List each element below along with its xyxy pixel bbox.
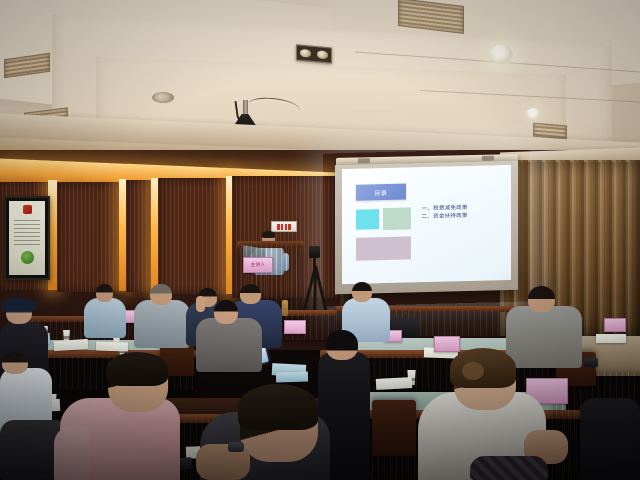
chair-back	[372, 400, 416, 456]
ceiling	[0, 0, 640, 172]
certificate-paper	[9, 201, 45, 275]
ceiling-downlight	[526, 108, 542, 120]
projection-screen-surface: 目录 一、税费减免政策 二、资金扶持政策	[342, 165, 511, 284]
smartphone	[584, 358, 598, 367]
ceiling-speaker	[152, 92, 174, 103]
wall-wood-panel	[158, 178, 226, 294]
attendee-far-right-body	[580, 398, 640, 480]
attendee-grey-row2-body	[134, 300, 190, 348]
framed-certificate	[4, 196, 50, 280]
wall-wood-panel	[57, 182, 119, 292]
document-paper	[96, 341, 128, 351]
desk-name-placard	[604, 318, 626, 332]
handout-booklet	[276, 371, 308, 382]
desk-name-placard	[434, 336, 460, 352]
conference-room-photo: 目录 一、税费减免政策 二、资金扶持政策 主讲人	[0, 0, 640, 480]
attendee-grey-far-head	[528, 286, 555, 312]
certificate-seal-icon	[23, 205, 32, 214]
attendee-dark-right-head	[326, 330, 358, 360]
attendee-phone-row2-body	[196, 318, 262, 372]
attendee-blue-right-head	[352, 282, 372, 302]
attendee-pink-front-arm	[54, 426, 90, 480]
slide-contents-item: 二、资金扶持政策	[421, 210, 502, 220]
attendee-front-right-hair	[238, 384, 318, 430]
attendee-white-woman-skirt	[470, 456, 548, 480]
desk-name-placard	[284, 320, 306, 334]
attendee-grey-row2-head	[150, 284, 172, 305]
attendee-raised-arm	[196, 296, 205, 312]
red-character-sign	[271, 221, 297, 232]
slide-cyan-block	[356, 210, 380, 230]
attendee-white-left-head	[2, 352, 28, 374]
attendee-blue-row2-body	[84, 298, 126, 338]
podium-name-placard: 主讲人	[243, 257, 273, 273]
presenter-hair	[262, 231, 275, 238]
screen-bracket	[482, 156, 494, 161]
attendee-cap-left-cap	[2, 298, 36, 310]
recessed-spotlight-box	[296, 44, 332, 63]
certificate-badge-icon	[21, 251, 34, 264]
document-paper	[376, 377, 413, 390]
presentation-slide: 目录 一、税费减免政策 二、资金扶持政策	[342, 165, 511, 284]
projection-screen: 目录 一、税费减免政策 二、资金扶持政策	[335, 161, 518, 294]
attendee-grey-far-body	[506, 306, 582, 368]
slide-contents-list: 一、税费减免政策 二、资金扶持政策	[421, 202, 502, 220]
attendee-phone-row2-head	[214, 300, 238, 324]
wall-amber-strip	[151, 178, 158, 292]
wall-amber-strip	[119, 179, 126, 291]
attendee-pink-front-hair	[106, 352, 168, 386]
attendee-white-woman-bun	[462, 362, 484, 380]
certificate-text-lines	[14, 217, 39, 248]
document-paper	[596, 334, 626, 343]
drink-bottle	[282, 300, 288, 316]
slide-mauve-block	[356, 236, 412, 260]
wall-wood-panel	[126, 180, 151, 292]
slide-green-block	[383, 208, 412, 231]
attendee-stripe-row2-head	[240, 284, 261, 304]
ceiling-downlight	[489, 45, 513, 64]
slide-toc-badge: 目录	[356, 184, 407, 201]
wristwatch	[228, 442, 244, 452]
screen-bracket	[358, 158, 370, 163]
attendee-blue-row2-head	[96, 284, 113, 302]
